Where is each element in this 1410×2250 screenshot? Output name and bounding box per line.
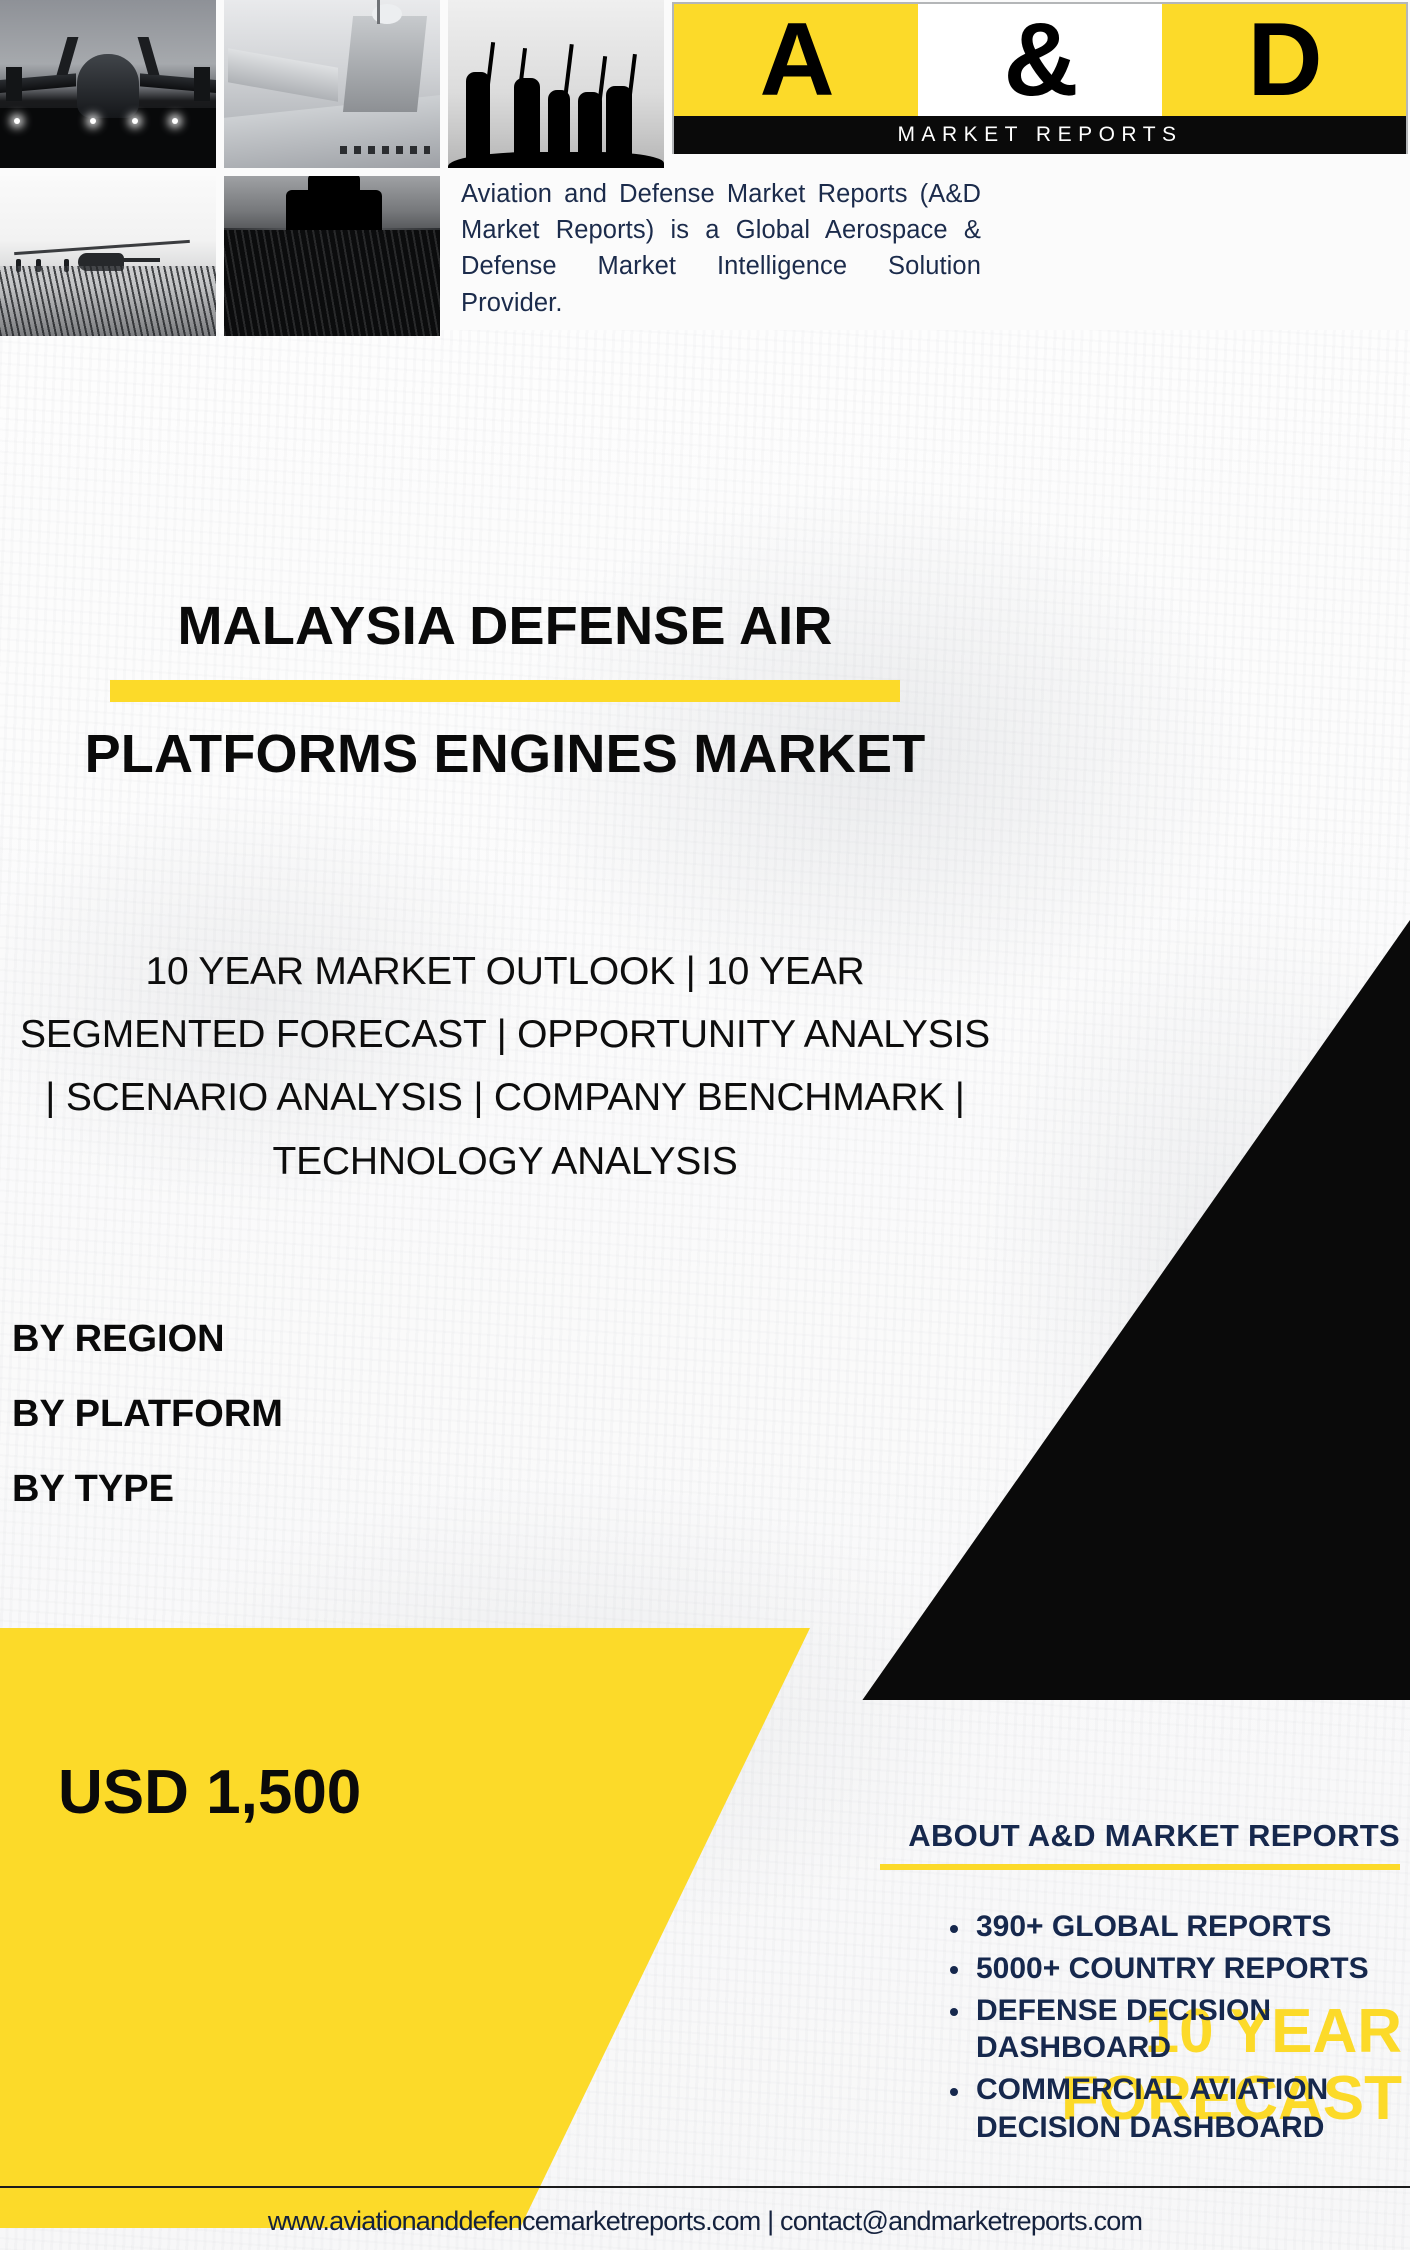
bullet-icon (950, 1966, 958, 1974)
carrier-portholes (340, 146, 430, 154)
jet-fin-right (138, 37, 160, 75)
about-item-label: COMMERCIAL AVIATION DECISION DASHBOARD (976, 2073, 1328, 2144)
report-title-line-1: MALAYSIA DEFENSE AIR (0, 596, 1010, 656)
jet-wingtip-left (6, 67, 22, 101)
fighter-jet-photo (0, 0, 216, 168)
company-intro-paragraph: Aviation and Defense Market Reports (A&D… (461, 176, 981, 321)
jet-fuselage (77, 54, 139, 118)
helicopter-tail (118, 258, 160, 262)
logo-subtitle-text: MARKET REPORTS (897, 123, 1182, 147)
jet-wingtip-right (194, 67, 210, 101)
bullet-icon (950, 2008, 958, 2016)
rifle (485, 42, 495, 94)
dark-terrain (224, 230, 440, 336)
report-subtitle: 10 YEAR MARKET OUTLOOK | 10 YEAR SEGMENT… (20, 940, 990, 1193)
segment-by-region: BY REGION (12, 1320, 283, 1358)
about-item-label: 5000+ COUNTRY REPORTS (976, 1952, 1369, 1985)
field-grass (0, 266, 216, 336)
logo-letters-row: A & D (674, 4, 1406, 116)
logo-letter-d: D (1162, 4, 1406, 116)
logo-subtitle-bar: MARKET REPORTS (674, 116, 1406, 154)
list-item: DEFENSE DECISION DASHBOARD (938, 1992, 1400, 2068)
carrier-ramp (228, 48, 338, 101)
list-item: 5000+ COUNTRY REPORTS (938, 1950, 1400, 1988)
segment-by-type: BY TYPE (12, 1470, 283, 1508)
logo-letter-ampersand: & (918, 4, 1162, 116)
bullet-icon (950, 1925, 958, 1933)
about-heading: ABOUT A&D MARKET REPORTS (460, 1818, 1400, 1854)
logo-letter-a: A (674, 4, 918, 116)
about-heading-underline (880, 1864, 1400, 1870)
title-yellow-rule (110, 680, 900, 702)
helicopter-photo (0, 176, 216, 336)
segmentation-list: BY REGION BY PLATFORM BY TYPE (12, 1320, 283, 1545)
jet-fin-left (57, 37, 79, 75)
bullet-icon (950, 2088, 958, 2096)
list-item: COMMERCIAL AVIATION DECISION DASHBOARD (938, 2071, 1400, 2147)
price-value: USD 1,500 (58, 1757, 361, 1828)
carrier-mast (377, 0, 380, 24)
soldiers-photo (448, 0, 664, 168)
aircraft-carrier-photo (224, 0, 440, 168)
list-item: 390+ GLOBAL REPORTS (938, 1908, 1400, 1946)
carrier-island (343, 16, 427, 112)
footer-divider (0, 2186, 1410, 2188)
shoreline (448, 152, 664, 168)
rifle (627, 54, 637, 102)
segment-by-platform: BY PLATFORM (12, 1395, 283, 1433)
armored-vehicle-photo (224, 176, 440, 336)
report-title: MALAYSIA DEFENSE AIR PLATFORMS ENGINES M… (0, 596, 1010, 785)
footer-contact: www.aviationanddefencemarketreports.com … (0, 2192, 1410, 2250)
about-item-label: DEFENSE DECISION DASHBOARD (976, 1994, 1271, 2065)
ad-market-reports-logo: A & D MARKET REPORTS (672, 2, 1408, 154)
report-title-line-2: PLATFORMS ENGINES MARKET (0, 724, 1010, 784)
about-item-label: 390+ GLOBAL REPORTS (976, 1910, 1331, 1943)
about-panel: ABOUT A&D MARKET REPORTS 390+ GLOBAL REP… (460, 1818, 1400, 2151)
about-feature-list: 390+ GLOBAL REPORTS 5000+ COUNTRY REPORT… (460, 1908, 1400, 2147)
